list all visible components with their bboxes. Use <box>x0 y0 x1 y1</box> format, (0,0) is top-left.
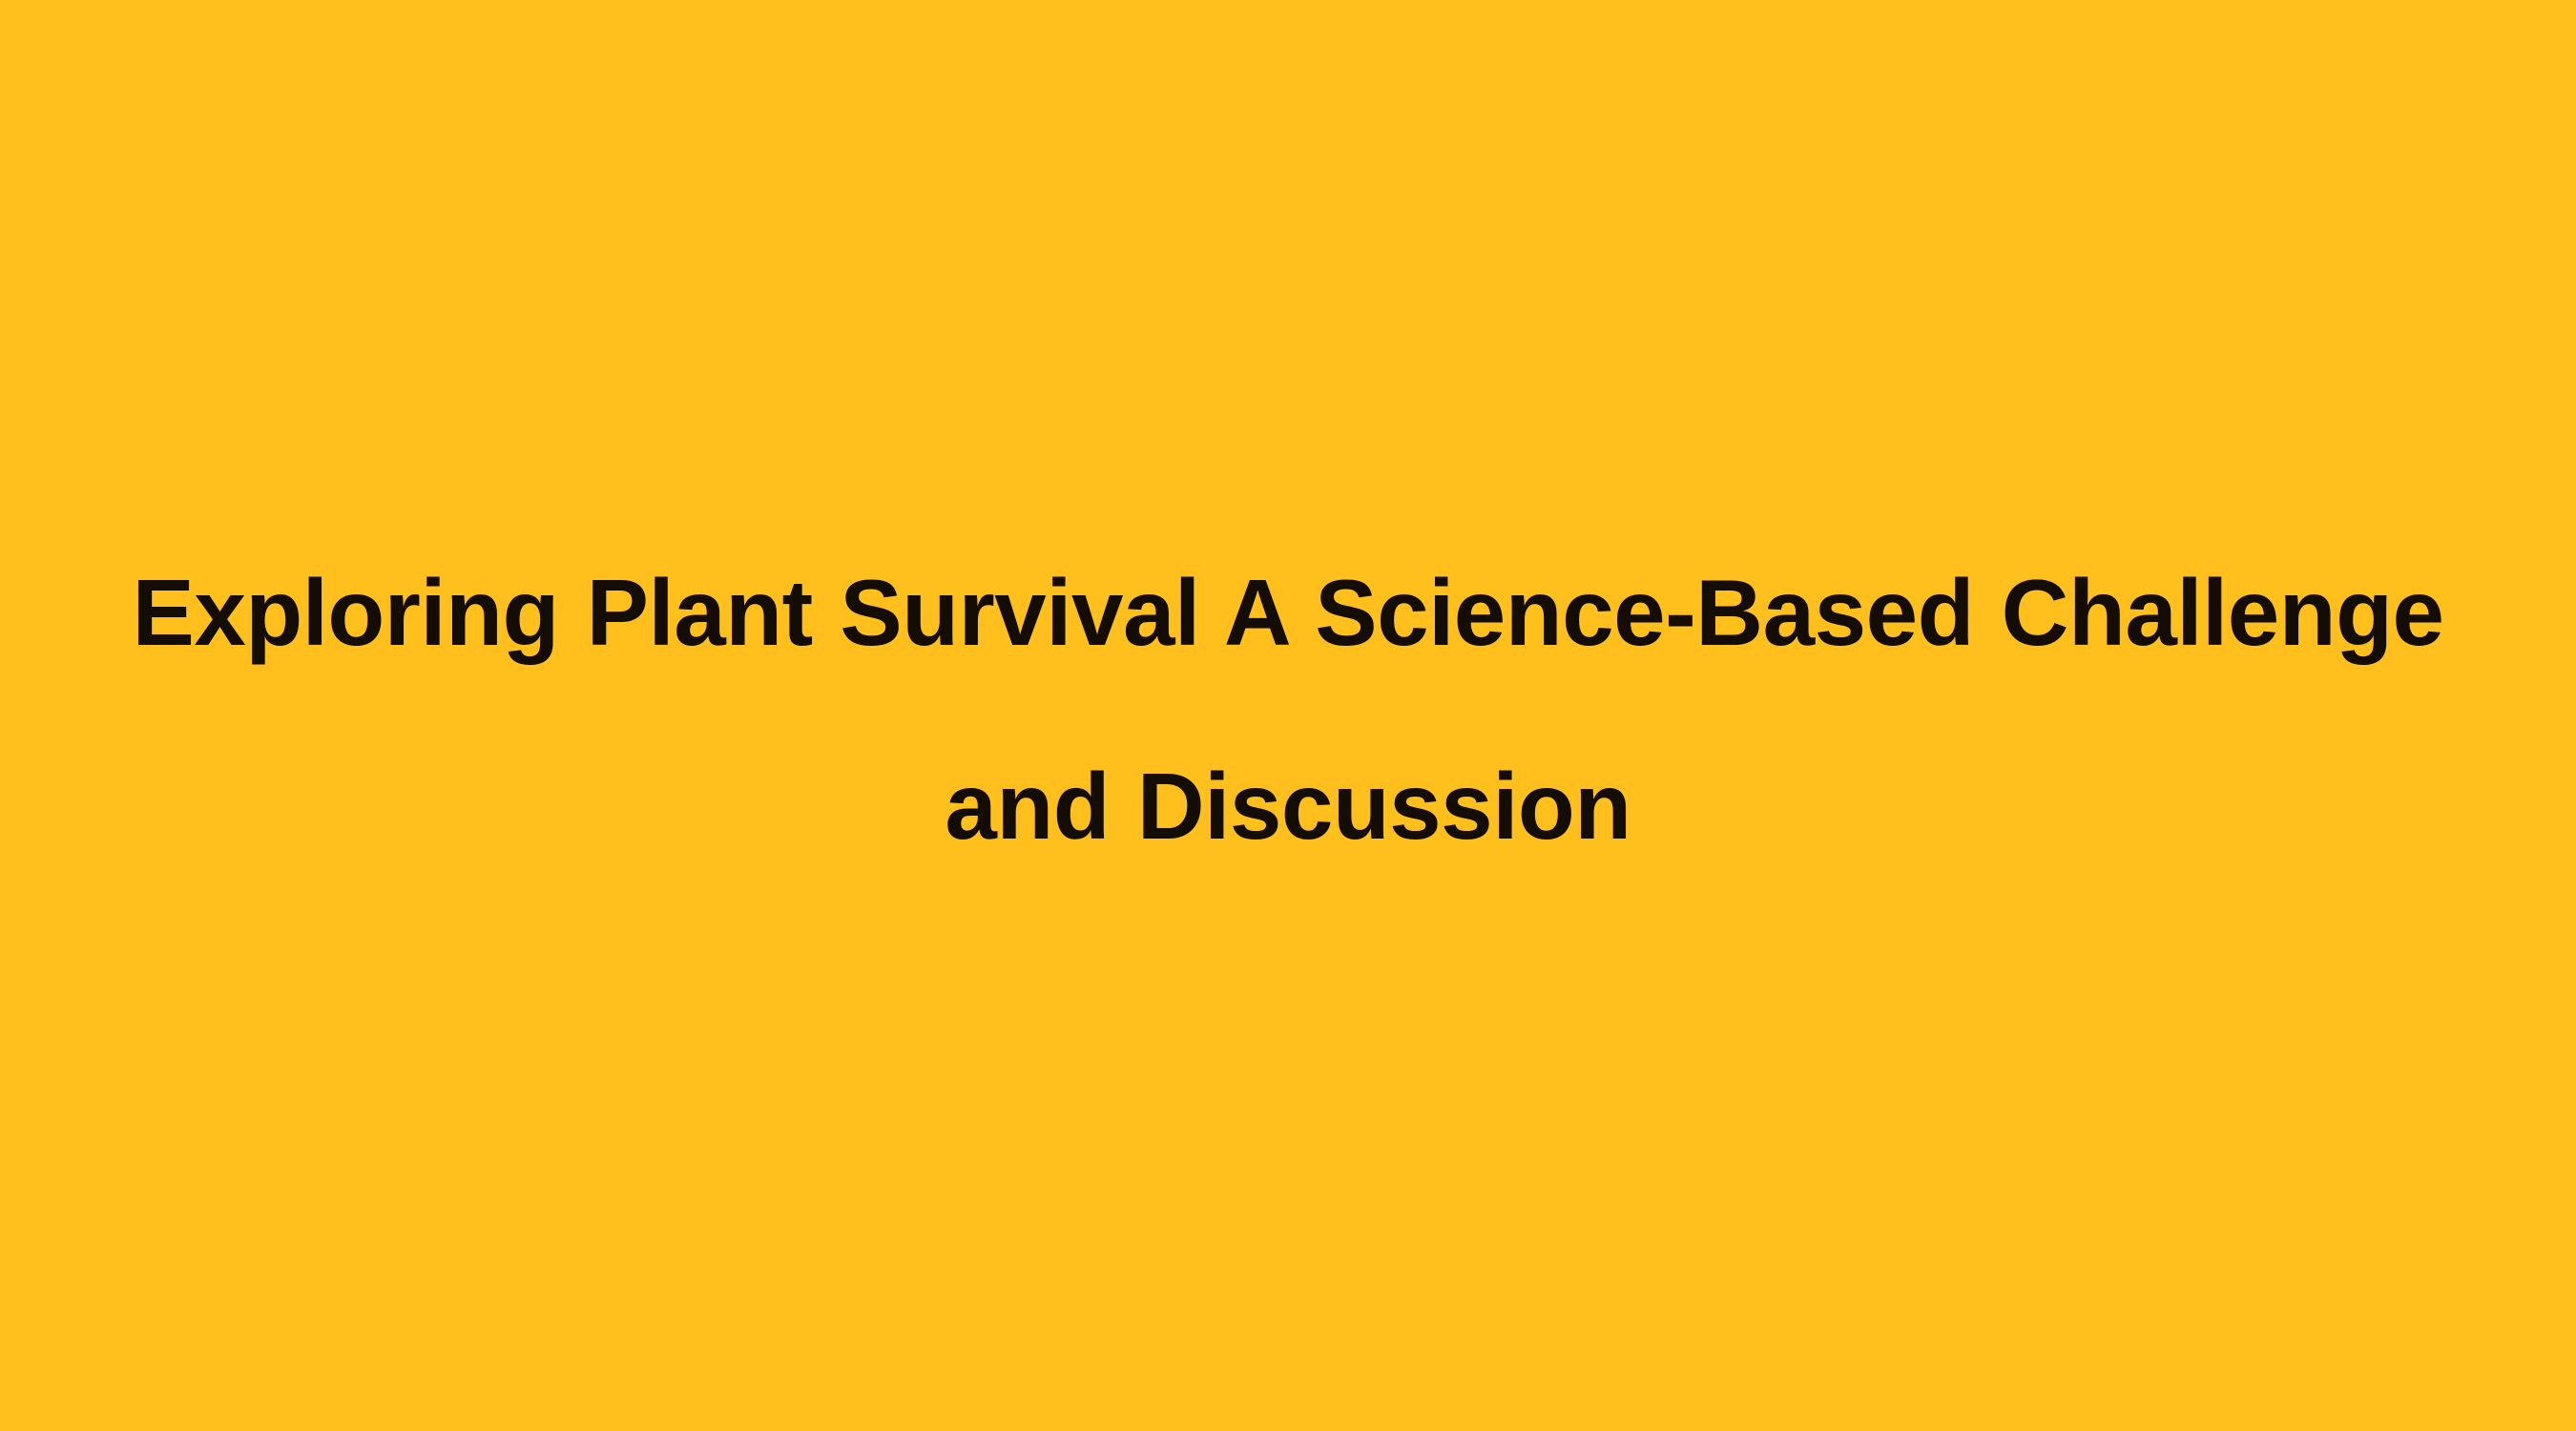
slide-canvas: Exploring Plant Survival A Science-Based… <box>0 0 2576 1431</box>
title-block: Exploring Plant Survival A Science-Based… <box>67 516 2509 903</box>
slide-title: Exploring Plant Survival A Science-Based… <box>67 516 2509 903</box>
